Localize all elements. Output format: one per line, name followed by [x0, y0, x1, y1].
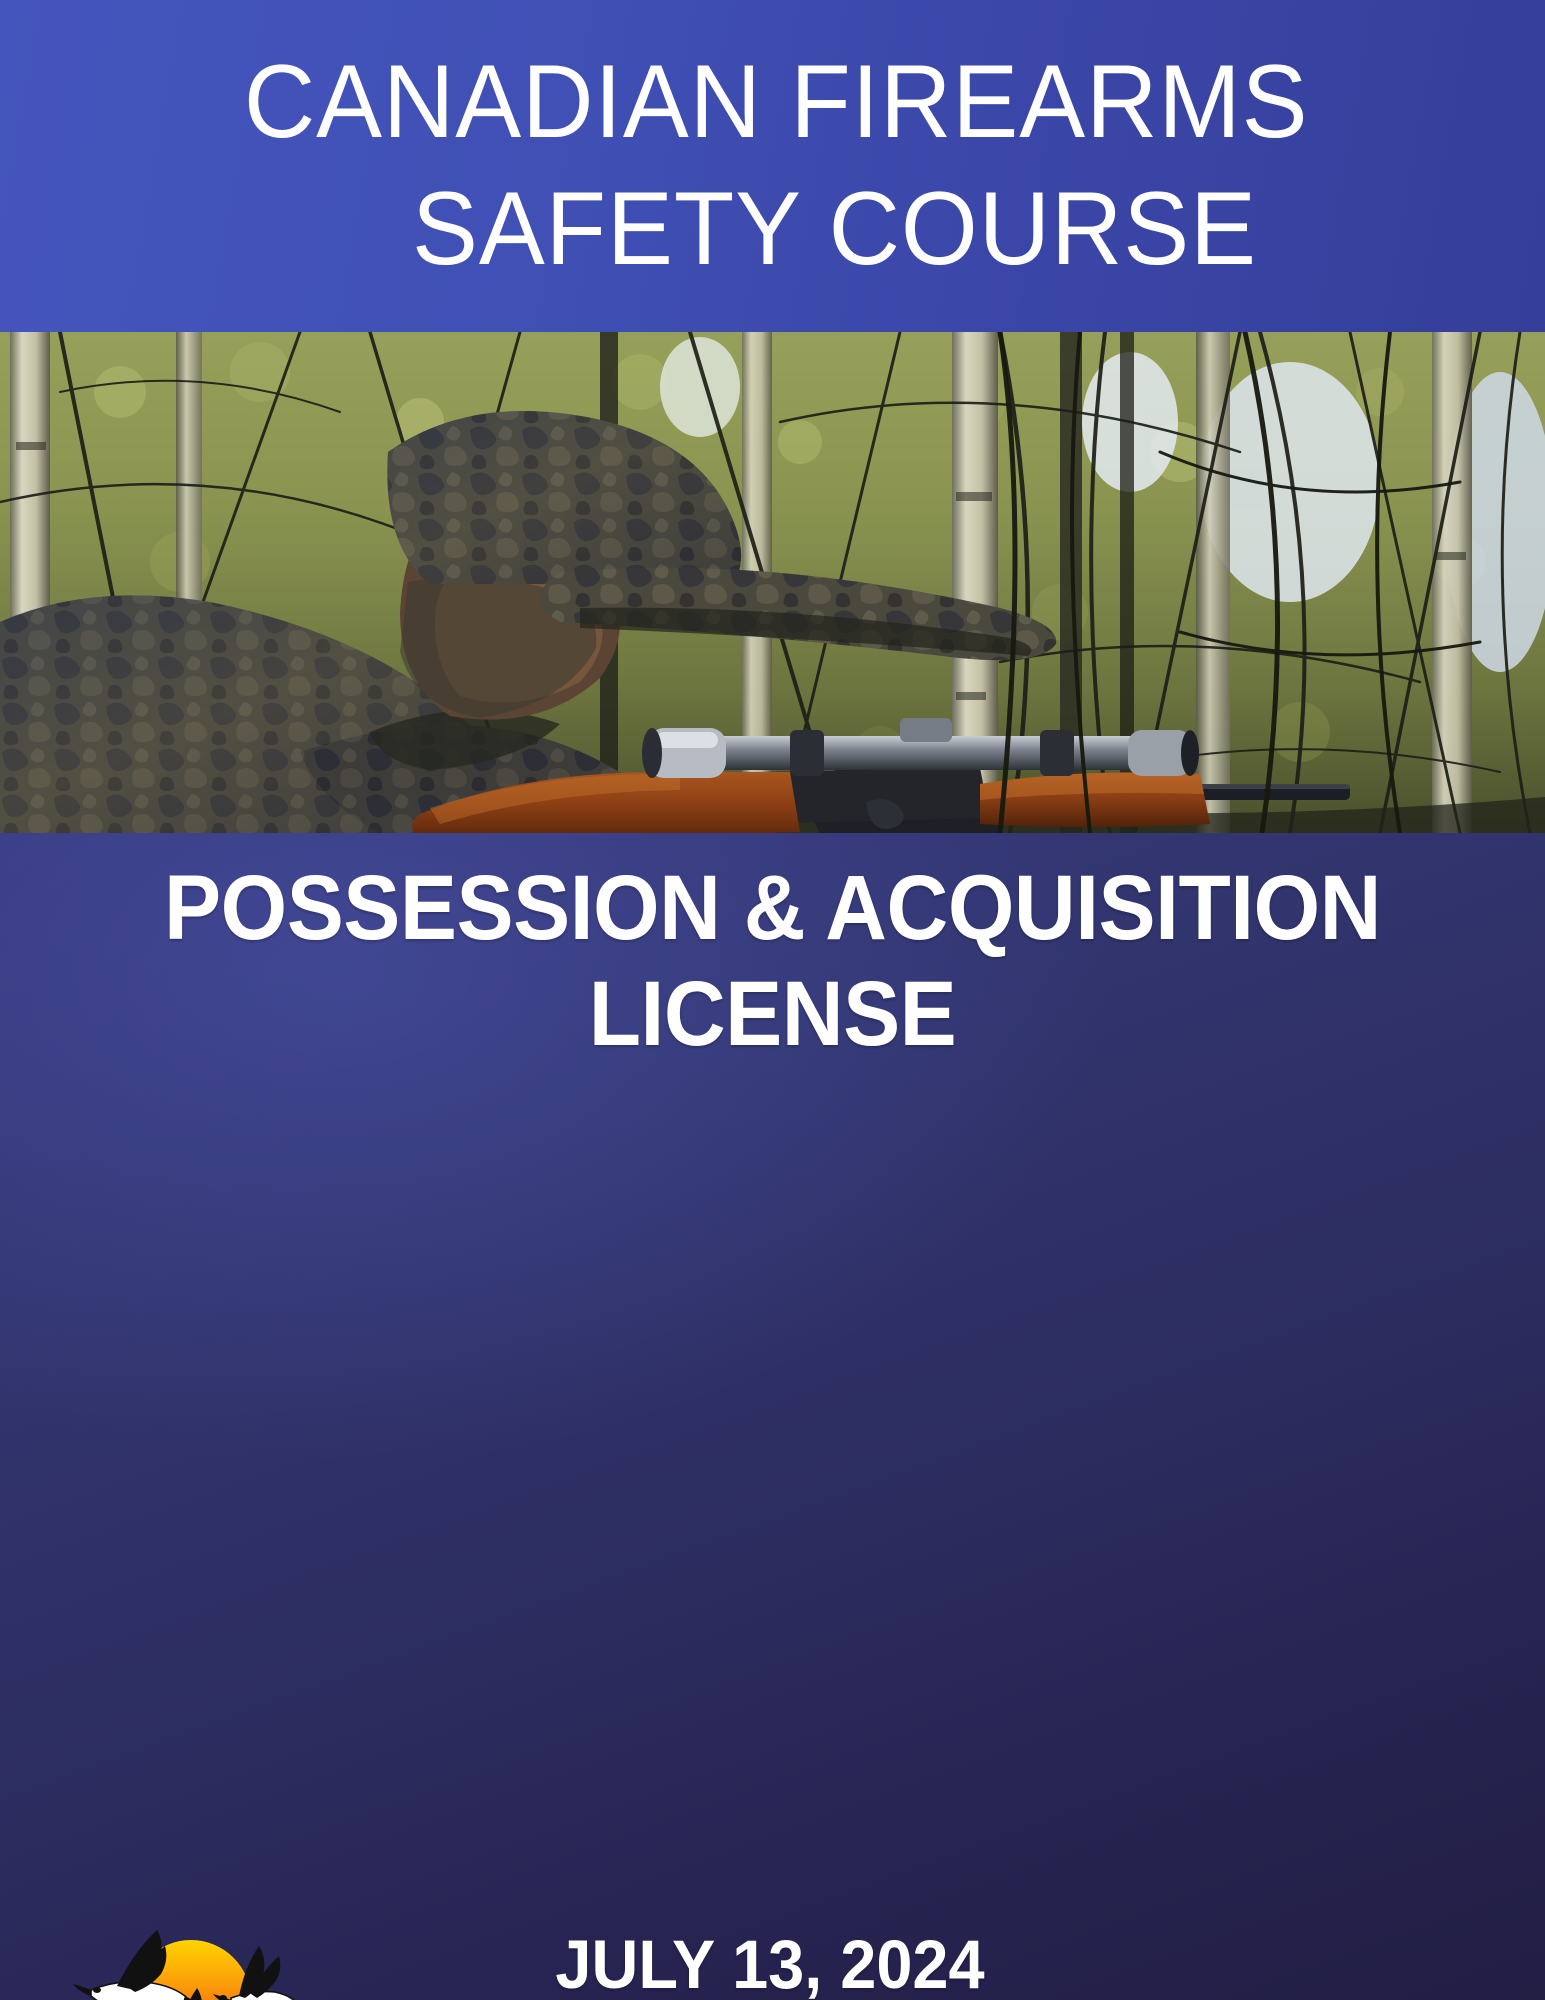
main-title-line-2: LICENSE [54, 962, 1491, 1068]
header-title-line-1: CANADIAN FIREARMS [236, 39, 1308, 166]
hunter-photo [0, 332, 1545, 833]
course-date: JULY 13, 2024 [309, 1925, 1230, 2000]
header-banner: CANADIAN FIREARMS SAFETY COURSE [0, 0, 1545, 332]
details-panel: POSSESSION & ACQUISITION LICENSE [0, 833, 1545, 2000]
header-title-line-2: SAFETY COURSE [288, 166, 1257, 293]
logo-artwork: Saskatoon Wildlife Federation [73, 1908, 300, 2000]
hunter-photo-illustration [0, 332, 1545, 833]
poster-canvas: CANADIAN FIREARMS SAFETY COURSE [0, 0, 1545, 2000]
course-details: JULY 13, 2024 9AM TO 6PM + TIME FOR TEST… [280, 1925, 1260, 2000]
main-title: POSSESSION & ACQUISITION LICENSE [0, 856, 1545, 1068]
main-title-line-1: POSSESSION & ACQUISITION [54, 856, 1491, 962]
saskatoon-wildlife-federation-logo: Saskatoon Wildlife Federation [73, 1908, 300, 2000]
